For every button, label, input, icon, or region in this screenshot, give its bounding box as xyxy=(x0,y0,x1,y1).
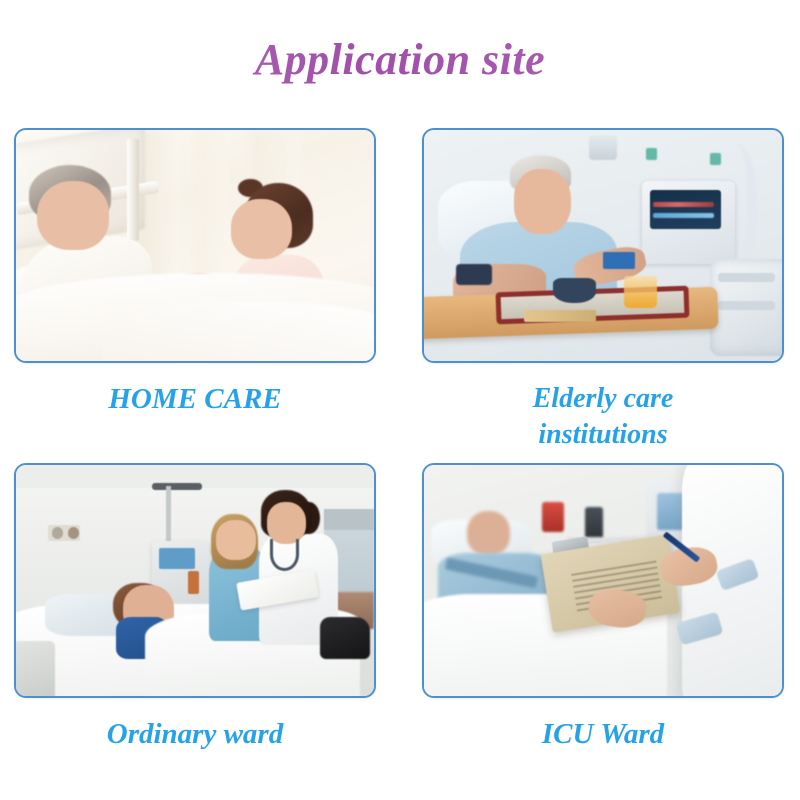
bed-rail-bar xyxy=(718,273,775,282)
doctor-head xyxy=(267,502,306,544)
iv-ceiling-mount xyxy=(152,483,202,490)
food-packet xyxy=(603,252,635,268)
application-card-home-care[interactable]: HOME CARE xyxy=(14,128,376,417)
stethoscope-icon xyxy=(270,539,299,571)
monitor-screen xyxy=(650,190,722,229)
bed-rail-bar xyxy=(718,301,775,310)
wall-outlet-icon xyxy=(52,527,63,539)
photo-elderly-care-institutions xyxy=(424,130,782,361)
chair xyxy=(320,617,370,659)
wall-outlet-icon xyxy=(68,527,79,539)
application-card-ordinary-ward[interactable]: Ordinary ward xyxy=(14,463,376,752)
dialysis-cartridge xyxy=(188,571,199,594)
card-caption-elderly-care-institutions: Elderly care institutions xyxy=(422,381,784,453)
ceiling-hook xyxy=(589,135,618,160)
patient-head xyxy=(514,169,571,234)
photo-frame-icu-ward xyxy=(422,463,784,698)
patient-head xyxy=(467,511,510,555)
nurse-head xyxy=(216,520,255,559)
card-caption-icu-ward: ICU Ward xyxy=(422,716,784,752)
page-title: Application site xyxy=(0,32,800,88)
card-caption-ordinary-ward: Ordinary ward xyxy=(14,716,376,752)
bed-footboard xyxy=(16,641,55,696)
crackers xyxy=(524,310,596,322)
blood-pressure-cuff xyxy=(456,264,492,285)
wall-gas-port-icon xyxy=(710,153,721,165)
card-caption-home-care: HOME CARE xyxy=(14,381,376,417)
red-container xyxy=(542,502,563,532)
headboard-post xyxy=(127,139,140,241)
application-site-page: Application site xyxy=(0,0,800,800)
juice-glass xyxy=(624,276,656,308)
photo-frame-home-care xyxy=(14,128,376,363)
photo-frame-ordinary-ward xyxy=(14,463,376,698)
elderly-woman-head xyxy=(37,181,109,250)
photo-frame-elderly-care-institutions xyxy=(422,128,784,363)
monitor-waveform-blue xyxy=(653,213,714,218)
dialysis-screen xyxy=(159,548,195,569)
photo-icu-ward xyxy=(424,465,782,696)
soup-bowl xyxy=(553,278,596,303)
caregiver-head xyxy=(231,199,292,259)
photo-home-care xyxy=(16,130,374,361)
monitor-waveform-red xyxy=(653,202,714,208)
photo-ordinary-ward xyxy=(16,465,374,696)
wall-gas-port-icon xyxy=(646,148,657,160)
application-card-icu-ward[interactable]: ICU Ward xyxy=(422,463,784,752)
window-blind xyxy=(324,509,374,530)
application-card-elderly-care-institutions[interactable]: Elderly care institutions xyxy=(422,128,784,453)
